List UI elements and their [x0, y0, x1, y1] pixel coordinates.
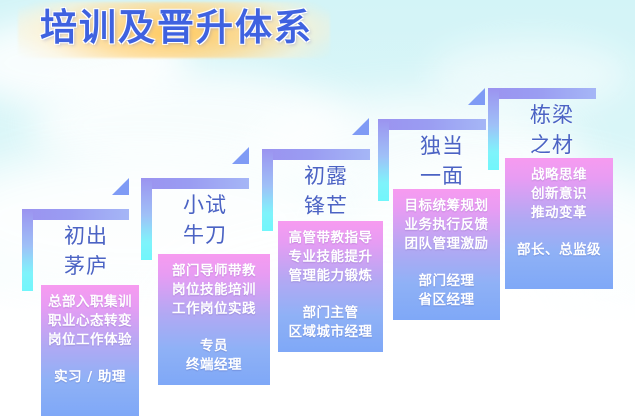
step-heading-line2: 锋芒 — [273, 191, 379, 221]
step-heading-line1: 小试 — [152, 190, 258, 220]
panel-item: 管理能力锻炼 — [278, 267, 383, 286]
step-riser-bar — [262, 149, 273, 231]
panel-item: 高管带教指导 — [278, 229, 383, 248]
step-heading-line1: 栋梁 — [499, 100, 605, 130]
panel-item: 战略思维 — [505, 166, 613, 185]
step-heading-line1: 初出 — [33, 221, 139, 251]
step-content-panel: 目标统筹规划 业务执行反馈 团队管理激励 部门经理 省区经理 — [393, 189, 500, 320]
step-riser-bar — [378, 119, 389, 201]
step-top-bar — [141, 178, 249, 189]
step-arrow-icon — [352, 118, 369, 135]
step-arrow-icon — [112, 178, 129, 195]
step-heading-line2: 牛刀 — [152, 220, 258, 250]
panel-spacer — [505, 223, 613, 241]
panel-item: 业务执行反馈 — [393, 216, 500, 235]
step-content-panel: 总部入职集训 职业心态转变 岗位工作体验 实习 / 助理 — [41, 285, 139, 416]
step-top-bar — [488, 88, 596, 99]
panel-item: 团队管理激励 — [393, 235, 500, 254]
step-heading: 初露 锋芒 — [273, 161, 379, 221]
panel-role: 终端经理 — [158, 356, 270, 375]
panel-item: 部门导师带教 — [158, 262, 270, 281]
panel-item: 专业技能提升 — [278, 248, 383, 267]
slide-title: 培训及晋升体系 — [40, 4, 320, 52]
panel-role: 部长、总监级 — [505, 241, 613, 260]
step-top-bar — [378, 119, 486, 130]
panel-item: 创新意识 — [505, 185, 613, 204]
step-heading-line2: 之材 — [499, 130, 605, 160]
panel-item: 推动变革 — [505, 204, 613, 223]
step-top-bar — [262, 149, 370, 160]
panel-item: 岗位技能培训 — [158, 281, 270, 300]
step-content-panel: 战略思维 创新意识 推动变革 部长、总监级 — [505, 158, 613, 289]
step-heading: 栋梁 之材 — [499, 100, 605, 160]
panel-item: 职业心态转变 — [41, 312, 139, 331]
panel-spacer — [41, 350, 139, 368]
panel-spacer — [278, 286, 383, 304]
panel-role: 部门经理 — [393, 272, 500, 291]
panel-role: 省区经理 — [393, 291, 500, 310]
step-riser-bar — [141, 178, 152, 260]
panel-role: 专员 — [158, 337, 270, 356]
slide-canvas: 培训及晋升体系 初出 茅庐 总部入职集训 职业心态转变 岗位工作体验 实习 / … — [0, 0, 635, 419]
panel-role: 区域城市经理 — [278, 323, 383, 342]
step-arrow-icon — [468, 88, 485, 105]
step-heading: 小试 牛刀 — [152, 190, 258, 250]
step-riser-bar — [22, 209, 33, 291]
step-heading: 独当 一面 — [389, 131, 495, 191]
panel-item: 工作岗位实践 — [158, 300, 270, 319]
panel-item: 目标统筹规划 — [393, 197, 500, 216]
panel-spacer — [393, 254, 500, 272]
step-top-bar — [22, 209, 129, 220]
step-heading-line1: 初露 — [273, 161, 379, 191]
step-heading-line2: 茅庐 — [33, 251, 139, 281]
panel-item: 总部入职集训 — [41, 293, 139, 312]
panel-item: 岗位工作体验 — [41, 331, 139, 350]
step-heading-line1: 独当 — [389, 131, 495, 161]
step-content-panel: 高管带教指导 专业技能提升 管理能力锻炼 部门主管 区域城市经理 — [278, 221, 383, 352]
step-heading-line2: 一面 — [389, 161, 495, 191]
step-content-panel: 部门导师带教 岗位技能培训 工作岗位实践 专员 终端经理 — [158, 254, 270, 385]
step-heading: 初出 茅庐 — [33, 221, 139, 281]
step-arrow-icon — [232, 147, 249, 164]
step-riser-bar — [488, 88, 499, 170]
panel-spacer — [158, 319, 270, 337]
panel-role: 部门主管 — [278, 304, 383, 323]
panel-role: 实习 / 助理 — [41, 368, 139, 387]
